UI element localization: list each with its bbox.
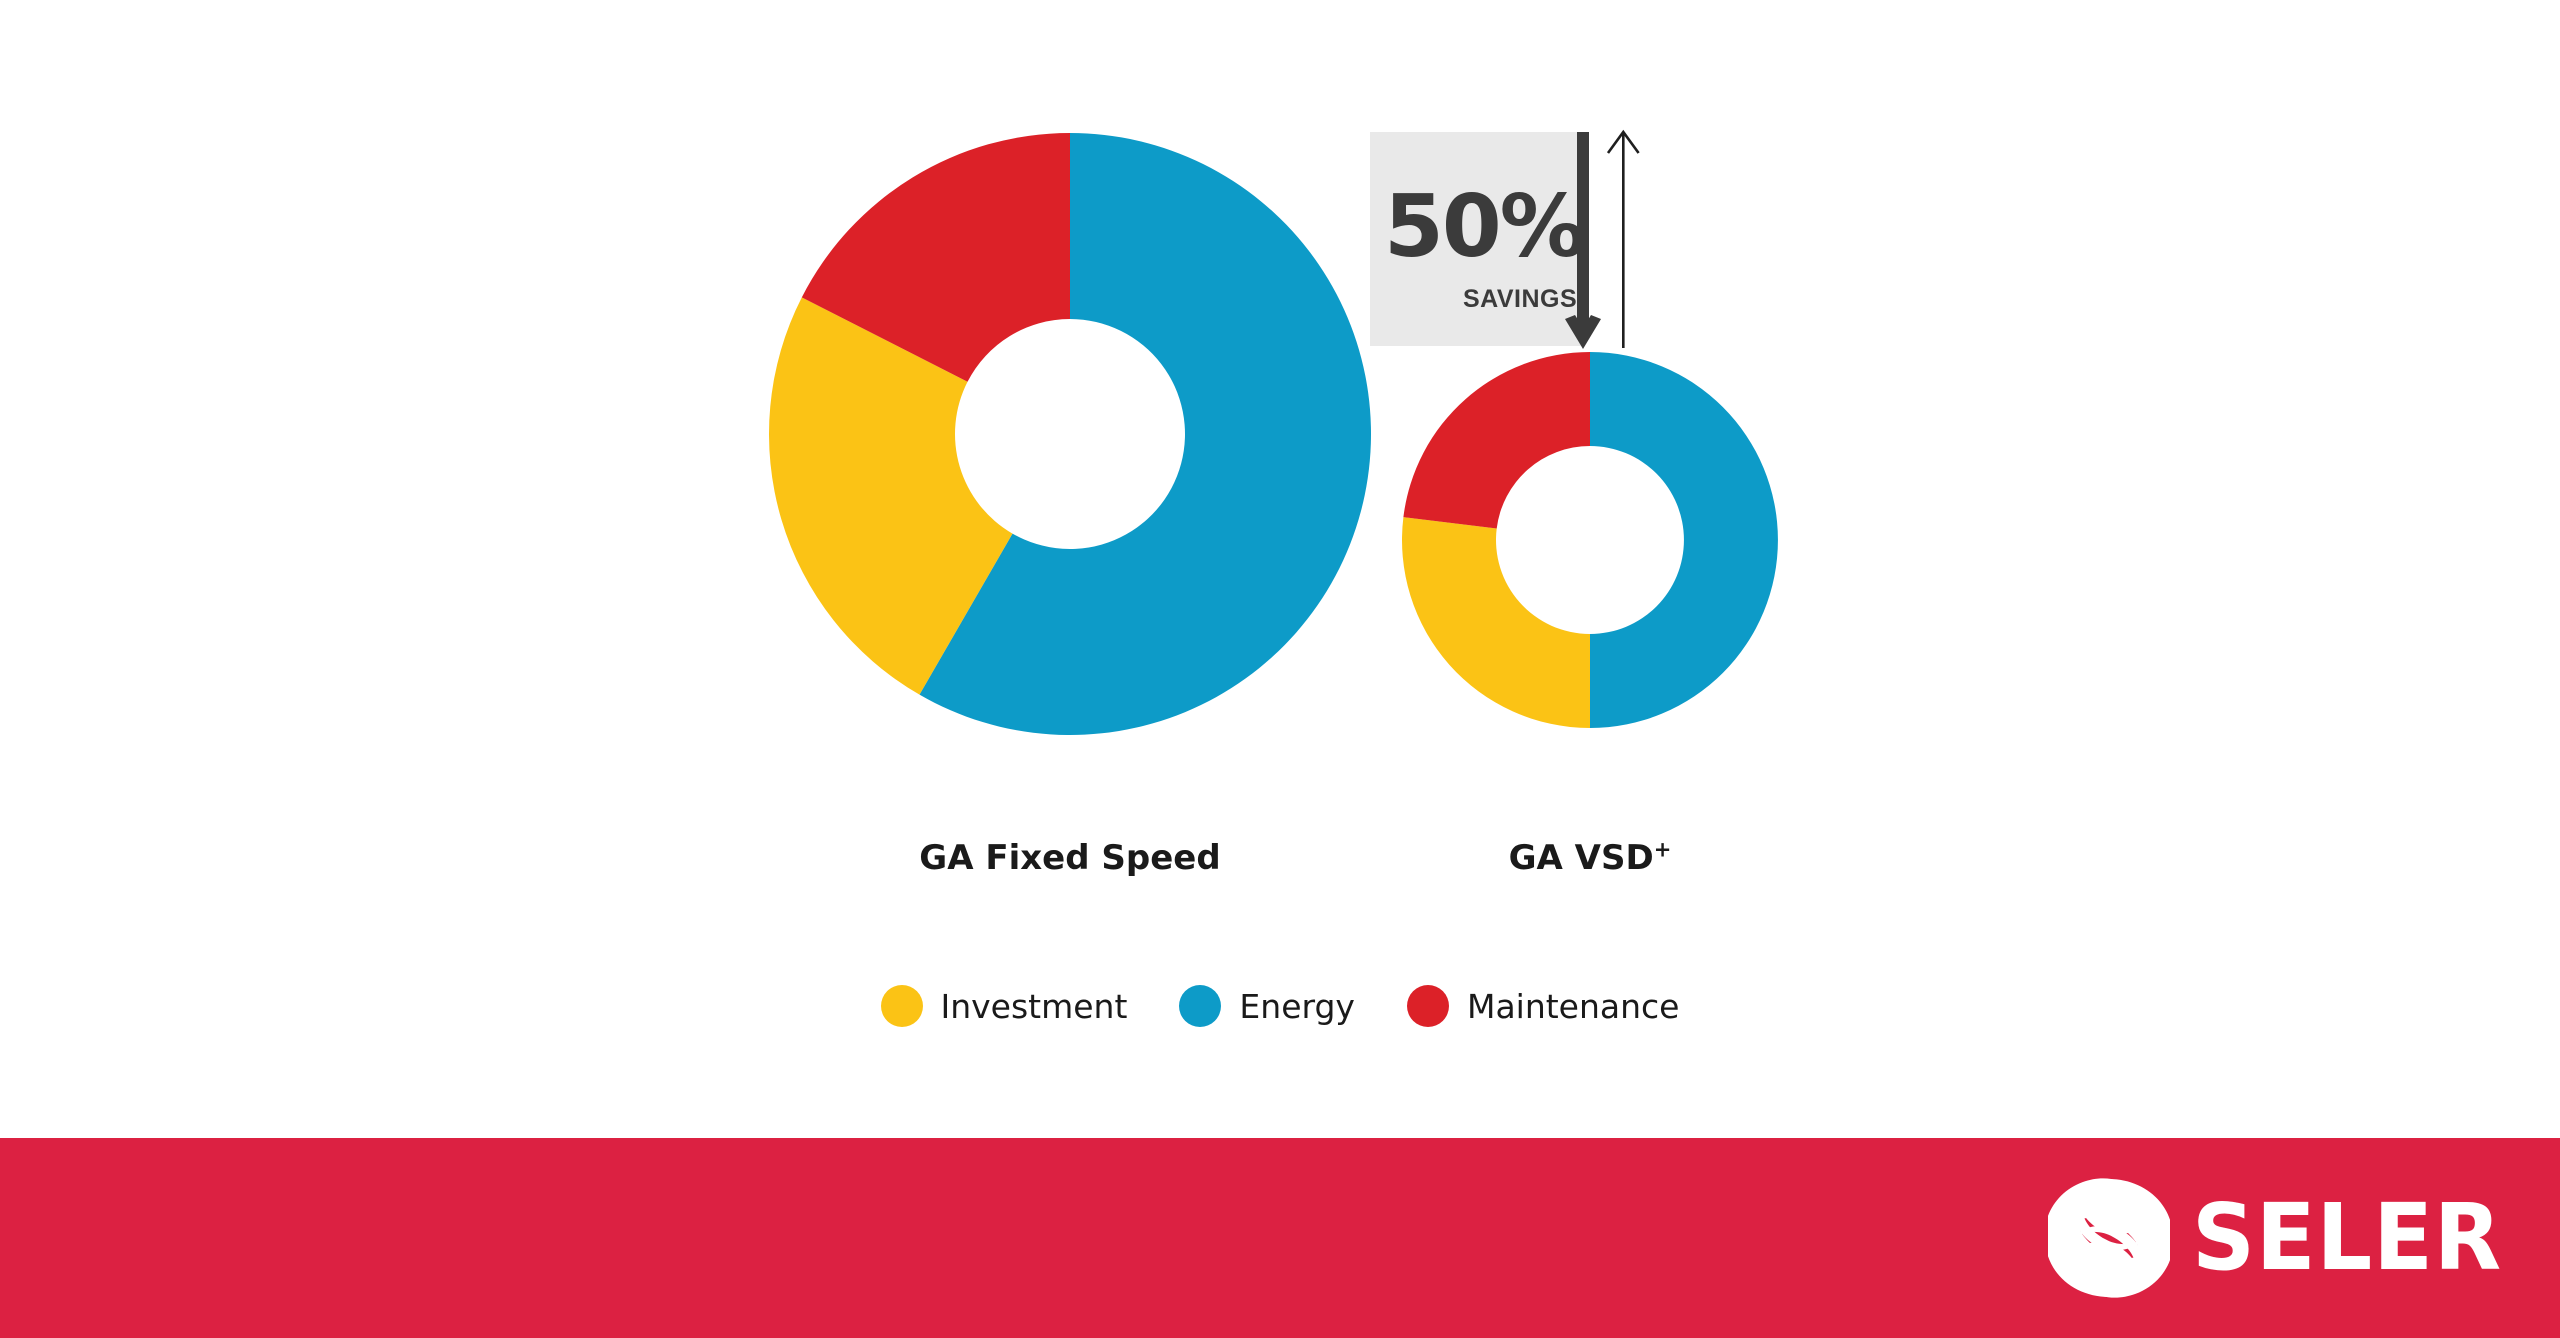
donut-chart-ga-fixed-speed [769, 133, 1371, 735]
chart-label-ga-fixed-speed: GA Fixed Speed [770, 838, 1370, 878]
savings-percent: 50% [1384, 184, 1584, 270]
chart-area: 50% SAVINGS GA Fixed Speed GA VSD+ Inves… [0, 0, 2560, 1138]
arrow-down-icon [1565, 132, 1601, 349]
chart-label-superscript: + [1654, 837, 1672, 862]
donut-slice-maintenance[interactable] [1403, 352, 1590, 529]
chart-label-ga-vsd-plus: GA VSD+ [1340, 838, 1840, 878]
brand-name: SELER [2192, 1192, 2502, 1284]
donut-slice-energy[interactable] [1590, 352, 1778, 728]
footer-banner: SELER [0, 1138, 2560, 1338]
savings-callout: 50% SAVINGS [1370, 132, 1582, 346]
brand-logo[interactable]: SELER [2048, 1170, 2518, 1306]
arrow-up-icon [1608, 132, 1639, 348]
donut-slice-investment[interactable] [1402, 517, 1590, 728]
donut-chart-ga-vsd-plus [1402, 352, 1778, 728]
donut-charts [0, 0, 2560, 1138]
seler-s-logo-icon [2048, 1177, 2170, 1299]
savings-arrows [1560, 125, 1670, 365]
chart-label-base: GA VSD [1509, 838, 1654, 878]
infographic-canvas: 50% SAVINGS GA Fixed Speed GA VSD+ Inves… [0, 0, 2560, 1338]
